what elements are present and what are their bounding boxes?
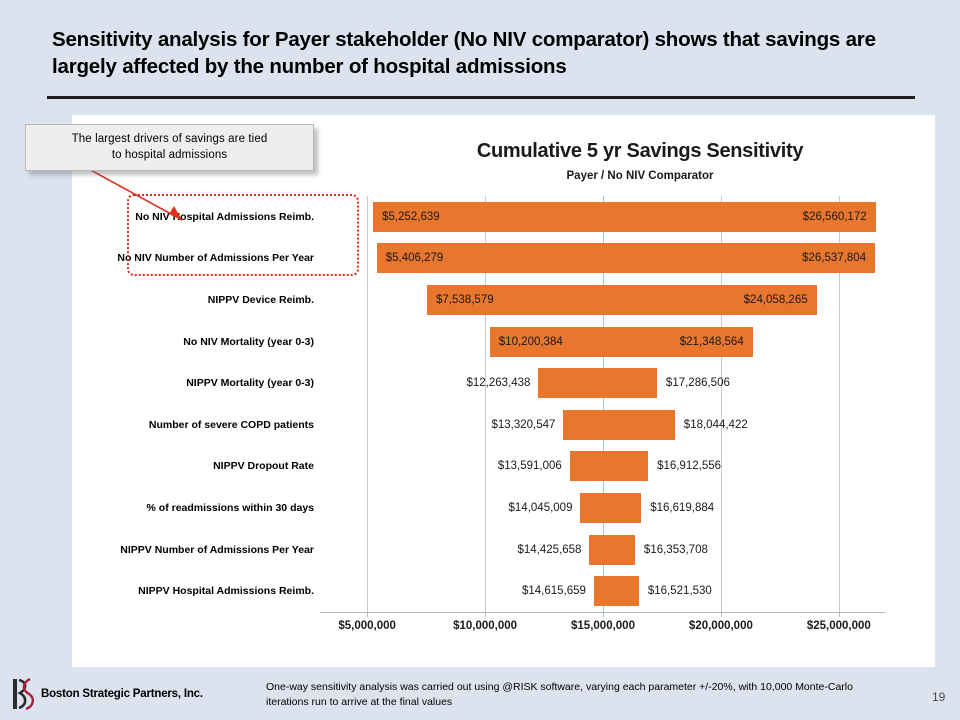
bar-row[interactable]: $5,406,279$26,537,804 <box>320 243 886 273</box>
bar-value-label-high: $16,619,884 <box>650 493 714 523</box>
bsp-monogram-icon <box>8 676 38 712</box>
bar[interactable] <box>538 368 656 398</box>
x-axis-tick-label: $5,000,000 <box>307 620 427 632</box>
y-axis-category-label: NIPPV Number of Admissions Per Year <box>78 535 314 565</box>
footer-note: One-way sensitivity analysis was carried… <box>266 680 886 710</box>
bar-value-label-high: $24,058,265 <box>720 285 808 315</box>
y-axis-category-label: No NIV Mortality (year 0-3) <box>78 327 314 357</box>
bar-value-label-low: $12,263,438 <box>442 368 530 398</box>
bar-value-label-low: $14,615,659 <box>498 576 586 606</box>
x-axis-tick-label: $20,000,000 <box>661 620 781 632</box>
page-title: Sensitivity analysis for Payer stakehold… <box>52 26 912 81</box>
callout-text: The largest drivers of savings are tied … <box>72 132 268 163</box>
y-axis-category-label: % of readmissions within 30 days <box>78 493 314 523</box>
bar-value-label-low: $14,045,009 <box>484 493 572 523</box>
bar-value-label-low: $7,538,579 <box>436 285 494 315</box>
bar-row[interactable]: $14,045,009$16,619,884 <box>320 493 886 523</box>
bar-value-label-low: $13,591,006 <box>474 451 562 481</box>
y-axis-category-label: NIPPV Dropout Rate <box>78 451 314 481</box>
bar-row[interactable]: $5,252,639$26,560,172 <box>320 202 886 232</box>
bar-value-label-high: $16,353,708 <box>644 535 708 565</box>
y-axis-category-label: NIPPV Device Reimb. <box>78 285 314 315</box>
bar-value-label-low: $5,406,279 <box>386 243 444 273</box>
bar-value-label-high: $26,537,804 <box>778 243 866 273</box>
x-axis-tick-label: $25,000,000 <box>779 620 899 632</box>
x-axis-tick <box>367 612 368 617</box>
bar-value-label-high: $18,044,422 <box>684 410 748 440</box>
bar-value-label-high: $16,912,556 <box>657 451 721 481</box>
bar-row[interactable]: $10,200,384$21,348,564 <box>320 327 886 357</box>
callout-line-2: to hospital admissions <box>112 149 227 161</box>
bar-value-label-low: $5,252,639 <box>382 202 440 232</box>
bar-value-label-low: $10,200,384 <box>499 327 563 357</box>
bar-row[interactable]: $14,425,658$16,353,708 <box>320 535 886 565</box>
plot-area: $5,252,639$26,560,172$5,406,279$26,537,8… <box>320 196 886 612</box>
highlight-box <box>127 194 359 276</box>
x-axis-tick-label: $15,000,000 <box>543 620 663 632</box>
bar[interactable] <box>594 576 639 606</box>
bar[interactable] <box>570 451 648 481</box>
bar-value-label-low: $13,320,547 <box>467 410 555 440</box>
bar-value-label-high: $17,286,506 <box>666 368 730 398</box>
chart-title: Cumulative 5 yr Savings Sensitivity <box>380 140 900 163</box>
bar-row[interactable]: $13,591,006$16,912,556 <box>320 451 886 481</box>
bar[interactable] <box>563 410 674 440</box>
x-axis-tick <box>721 612 722 617</box>
y-axis-category-label: NIPPV Mortality (year 0-3) <box>78 368 314 398</box>
callout-line-1: The largest drivers of savings are tied <box>72 133 268 145</box>
y-axis-category-label: NIPPV Hospital Admissions Reimb. <box>78 576 314 606</box>
company-logo: Boston Strategic Partners, Inc. <box>8 676 203 712</box>
bar-row[interactable]: $12,263,438$17,286,506 <box>320 368 886 398</box>
company-name: Boston Strategic Partners, Inc. <box>41 688 203 700</box>
bar-value-label-high: $21,348,564 <box>656 327 744 357</box>
y-axis-category-label: Number of severe COPD patients <box>78 410 314 440</box>
callout-box: The largest drivers of savings are tied … <box>25 124 314 171</box>
x-axis-tick <box>485 612 486 617</box>
chart-subtitle: Payer / No NIV Comparator <box>380 170 900 182</box>
bar-value-label-high: $26,560,172 <box>779 202 867 232</box>
x-axis-tick <box>839 612 840 617</box>
bar[interactable] <box>589 535 634 565</box>
x-axis-tick <box>603 612 604 617</box>
x-axis-tick-label: $10,000,000 <box>425 620 545 632</box>
bar-row[interactable]: $7,538,579$24,058,265 <box>320 285 886 315</box>
bar-row[interactable]: $14,615,659$16,521,530 <box>320 576 886 606</box>
page-number: 19 <box>932 690 945 704</box>
bar-row[interactable]: $13,320,547$18,044,422 <box>320 410 886 440</box>
bar-value-label-low: $14,425,658 <box>493 535 581 565</box>
bar-value-label-high: $16,521,530 <box>648 576 712 606</box>
bar[interactable] <box>580 493 641 523</box>
title-divider <box>47 96 915 99</box>
